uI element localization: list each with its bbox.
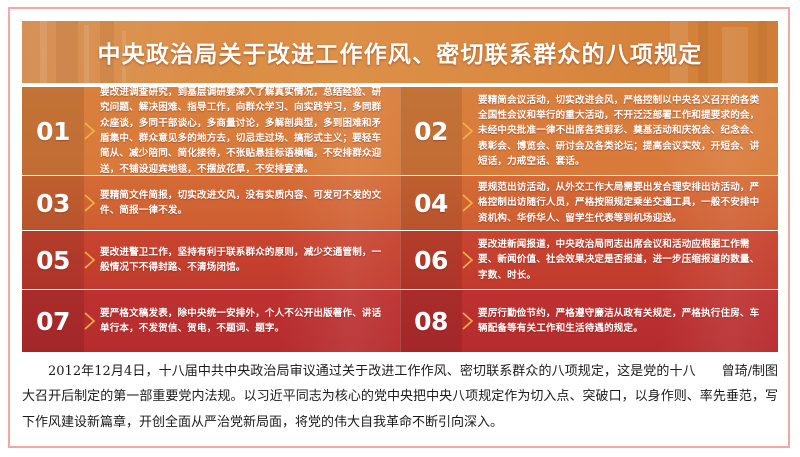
rule-text: 要精简文件简报，切实改进文风，没有实质内容、可发可不发的文件、简报一律不发。	[100, 188, 400, 219]
chevron-right-icon	[462, 122, 474, 140]
chevron-right-icon	[84, 122, 96, 140]
rule-number: 06	[400, 246, 462, 275]
rule-text: 要规范出访活动，从外交工作大局需要出发合理安排出访活动，严格控制出访随行人员，严…	[478, 180, 778, 226]
rule-number: 08	[400, 307, 462, 336]
rule-text: 要严格文稿发表，除中央统一安排外，个人不公开出版著作、讲话单行本，不发贺信、贺电…	[100, 306, 400, 337]
rule-text: 要改进警卫工作，坚持有利于联系群众的原则，减少交通管制，一般情况下不得封路、不清…	[100, 245, 400, 276]
rule-text: 要精简会议活动，切实改进会风，严格控制以中央名义召开的各类全国性会议和举行的重大…	[478, 93, 778, 170]
chevron-right-icon	[462, 251, 474, 269]
rules-row: 05 要改进警卫工作，坚持有利于联系群众的原则，减少交通管制，一般情况下不得封路…	[22, 231, 778, 289]
chevron-right-icon	[462, 194, 474, 212]
rule-number: 02	[400, 117, 462, 146]
credit-line: 曾琦/制图	[696, 359, 778, 384]
rule-text: 要厉行勤俭节约，严格遵守廉洁从政有关规定，严格执行住房、车辆配备等有关工作和生活…	[478, 306, 778, 337]
rule-number: 07	[22, 307, 84, 336]
rule-cell-02[interactable]: 02 要精简会议活动，切实改进会风，严格控制以中央名义召开的各类全国性会议和举行…	[400, 87, 778, 175]
rules-grid: 01 要改进调查研究，到基层调研要深入了解真实情况，总结经验、研究问题、解决困难…	[22, 87, 778, 352]
rule-cell-05[interactable]: 05 要改进警卫工作，坚持有利于联系群众的原则，减少交通管制，一般情况下不得封路…	[22, 231, 400, 289]
rule-number: 04	[400, 189, 462, 218]
chevron-right-icon	[84, 312, 96, 330]
rule-cell-01[interactable]: 01 要改进调查研究，到基层调研要深入了解真实情况，总结经验、研究问题、解决困难…	[22, 87, 400, 175]
rules-row: 03 要精简文件简报，切实改进文风，没有实质内容、可发可不发的文件、简报一律不发…	[22, 176, 778, 230]
rule-text: 要改进新闻报道，中央政治局同志出席会议和活动应根据工作需要、新闻价值、社会效果决…	[478, 237, 778, 283]
chevron-right-icon	[84, 251, 96, 269]
poster-root: 中央政治局关于改进工作作风、密切联系群众的八项规定 01 要改进调查研究，到基层…	[8, 7, 790, 448]
footer-paragraph: 2012年12月4日，十八届中共中央政治局审议通过关于改进工作作风、密切联系群众…	[22, 364, 778, 430]
rule-cell-06[interactable]: 06 要改进新闻报道，中央政治局同志出席会议和活动应根据工作需要、新闻价值、社会…	[400, 231, 778, 289]
page-title: 中央政治局关于改进工作作风、密切联系群众的八项规定	[22, 21, 778, 83]
footer-paragraph-block: 曾琦/制图 2012年12月4日，十八届中共中央政治局审议通过关于改进工作作风、…	[22, 359, 778, 437]
rule-number: 01	[22, 117, 84, 146]
rule-number: 03	[22, 189, 84, 218]
rule-cell-08[interactable]: 08 要厉行勤俭节约，严格遵守廉洁从政有关规定，严格执行住房、车辆配备等有关工作…	[400, 290, 778, 352]
rule-cell-03[interactable]: 03 要精简文件简报，切实改进文风，没有实质内容、可发可不发的文件、简报一律不发…	[22, 176, 400, 230]
header-banner: 中央政治局关于改进工作作风、密切联系群众的八项规定	[22, 21, 778, 83]
chevron-right-icon	[84, 194, 96, 212]
rule-number: 05	[22, 246, 84, 275]
rules-row: 07 要严格文稿发表，除中央统一安排外，个人不公开出版著作、讲话单行本，不发贺信…	[22, 290, 778, 352]
rule-cell-04[interactable]: 04 要规范出访活动，从外交工作大局需要出发合理安排出访活动，严格控制出访随行人…	[400, 176, 778, 230]
rule-cell-07[interactable]: 07 要严格文稿发表，除中央统一安排外，个人不公开出版著作、讲话单行本，不发贺信…	[22, 290, 400, 352]
rule-text: 要改进调查研究，到基层调研要深入了解真实情况，总结经验、研究问题、解决困难、指导…	[100, 87, 400, 175]
rules-row: 01 要改进调查研究，到基层调研要深入了解真实情况，总结经验、研究问题、解决困难…	[22, 87, 778, 175]
chevron-right-icon	[462, 312, 474, 330]
